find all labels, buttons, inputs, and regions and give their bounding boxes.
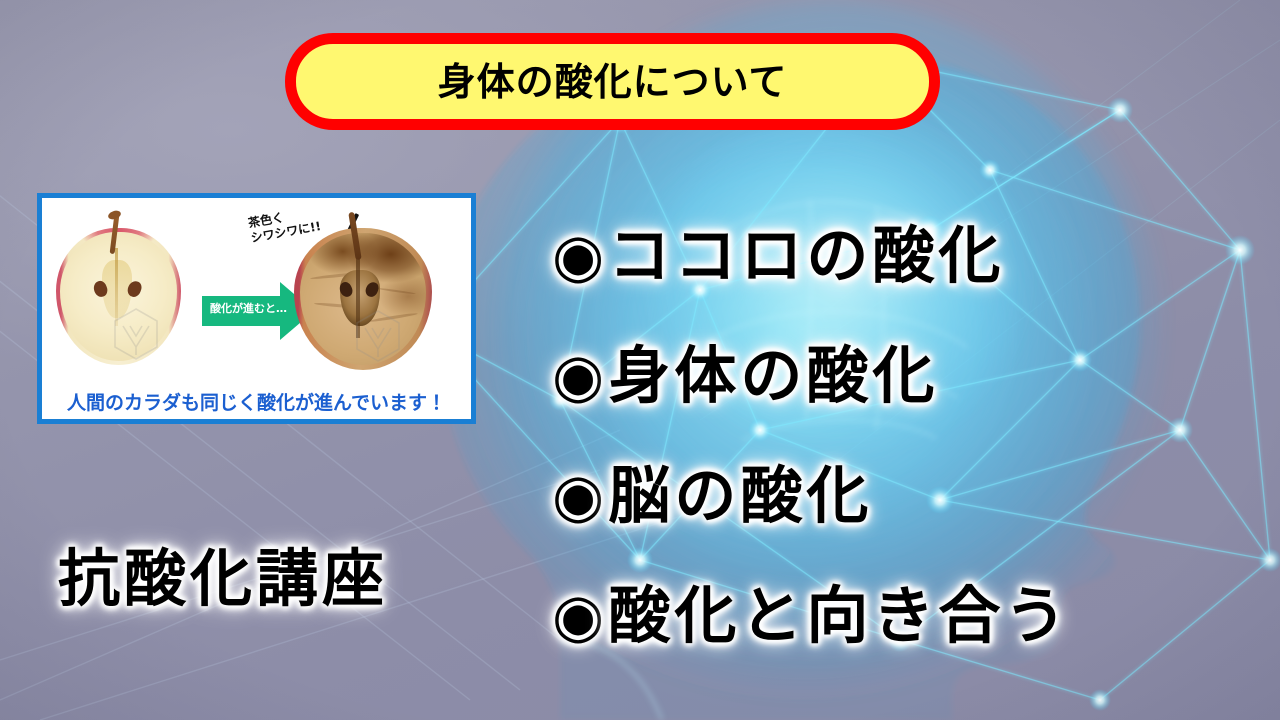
watermark-logo-icon bbox=[348, 308, 408, 368]
bullet-circle-icon: ◉ bbox=[552, 586, 604, 646]
agenda-item-brain[interactable]: ◉ 脳の酸化 bbox=[552, 436, 1272, 556]
agenda-item-kokoro[interactable]: ◉ ココロの酸化 bbox=[552, 196, 1272, 316]
agenda-item-label: ココロの酸化 bbox=[608, 225, 1004, 287]
title-banner: 身体の酸化について bbox=[285, 33, 940, 130]
agenda-item-label: 脳の酸化 bbox=[608, 465, 872, 527]
apple-oxidation-figure: 酸化が進むと… 茶色く シワシワに!! bbox=[37, 193, 476, 424]
agenda-item-label: 身体の酸化 bbox=[608, 345, 938, 407]
oxidation-arrow-label: 酸化が進むと… bbox=[210, 303, 282, 314]
agenda-item-body[interactable]: ◉ 身体の酸化 bbox=[552, 316, 1272, 436]
bullet-circle-icon: ◉ bbox=[552, 346, 604, 406]
slide-canvas: 身体の酸化について bbox=[0, 0, 1280, 720]
agenda-list: ◉ ココロの酸化 ◉ 身体の酸化 ◉ 脳の酸化 ◉ 酸化と向き合う bbox=[552, 196, 1272, 676]
bullet-circle-icon: ◉ bbox=[552, 226, 604, 286]
watermark-logo-icon bbox=[106, 306, 166, 366]
bullet-circle-icon: ◉ bbox=[552, 466, 604, 526]
page-title: 身体の酸化について bbox=[438, 63, 788, 101]
apple-figure-caption: 人間のカラダも同じく酸化が進んでいます！ bbox=[42, 388, 471, 415]
agenda-item-facing-oxidation[interactable]: ◉ 酸化と向き合う bbox=[552, 556, 1272, 676]
course-title: 抗酸化講座 bbox=[58, 548, 388, 610]
agenda-item-label: 酸化と向き合う bbox=[608, 585, 1070, 647]
